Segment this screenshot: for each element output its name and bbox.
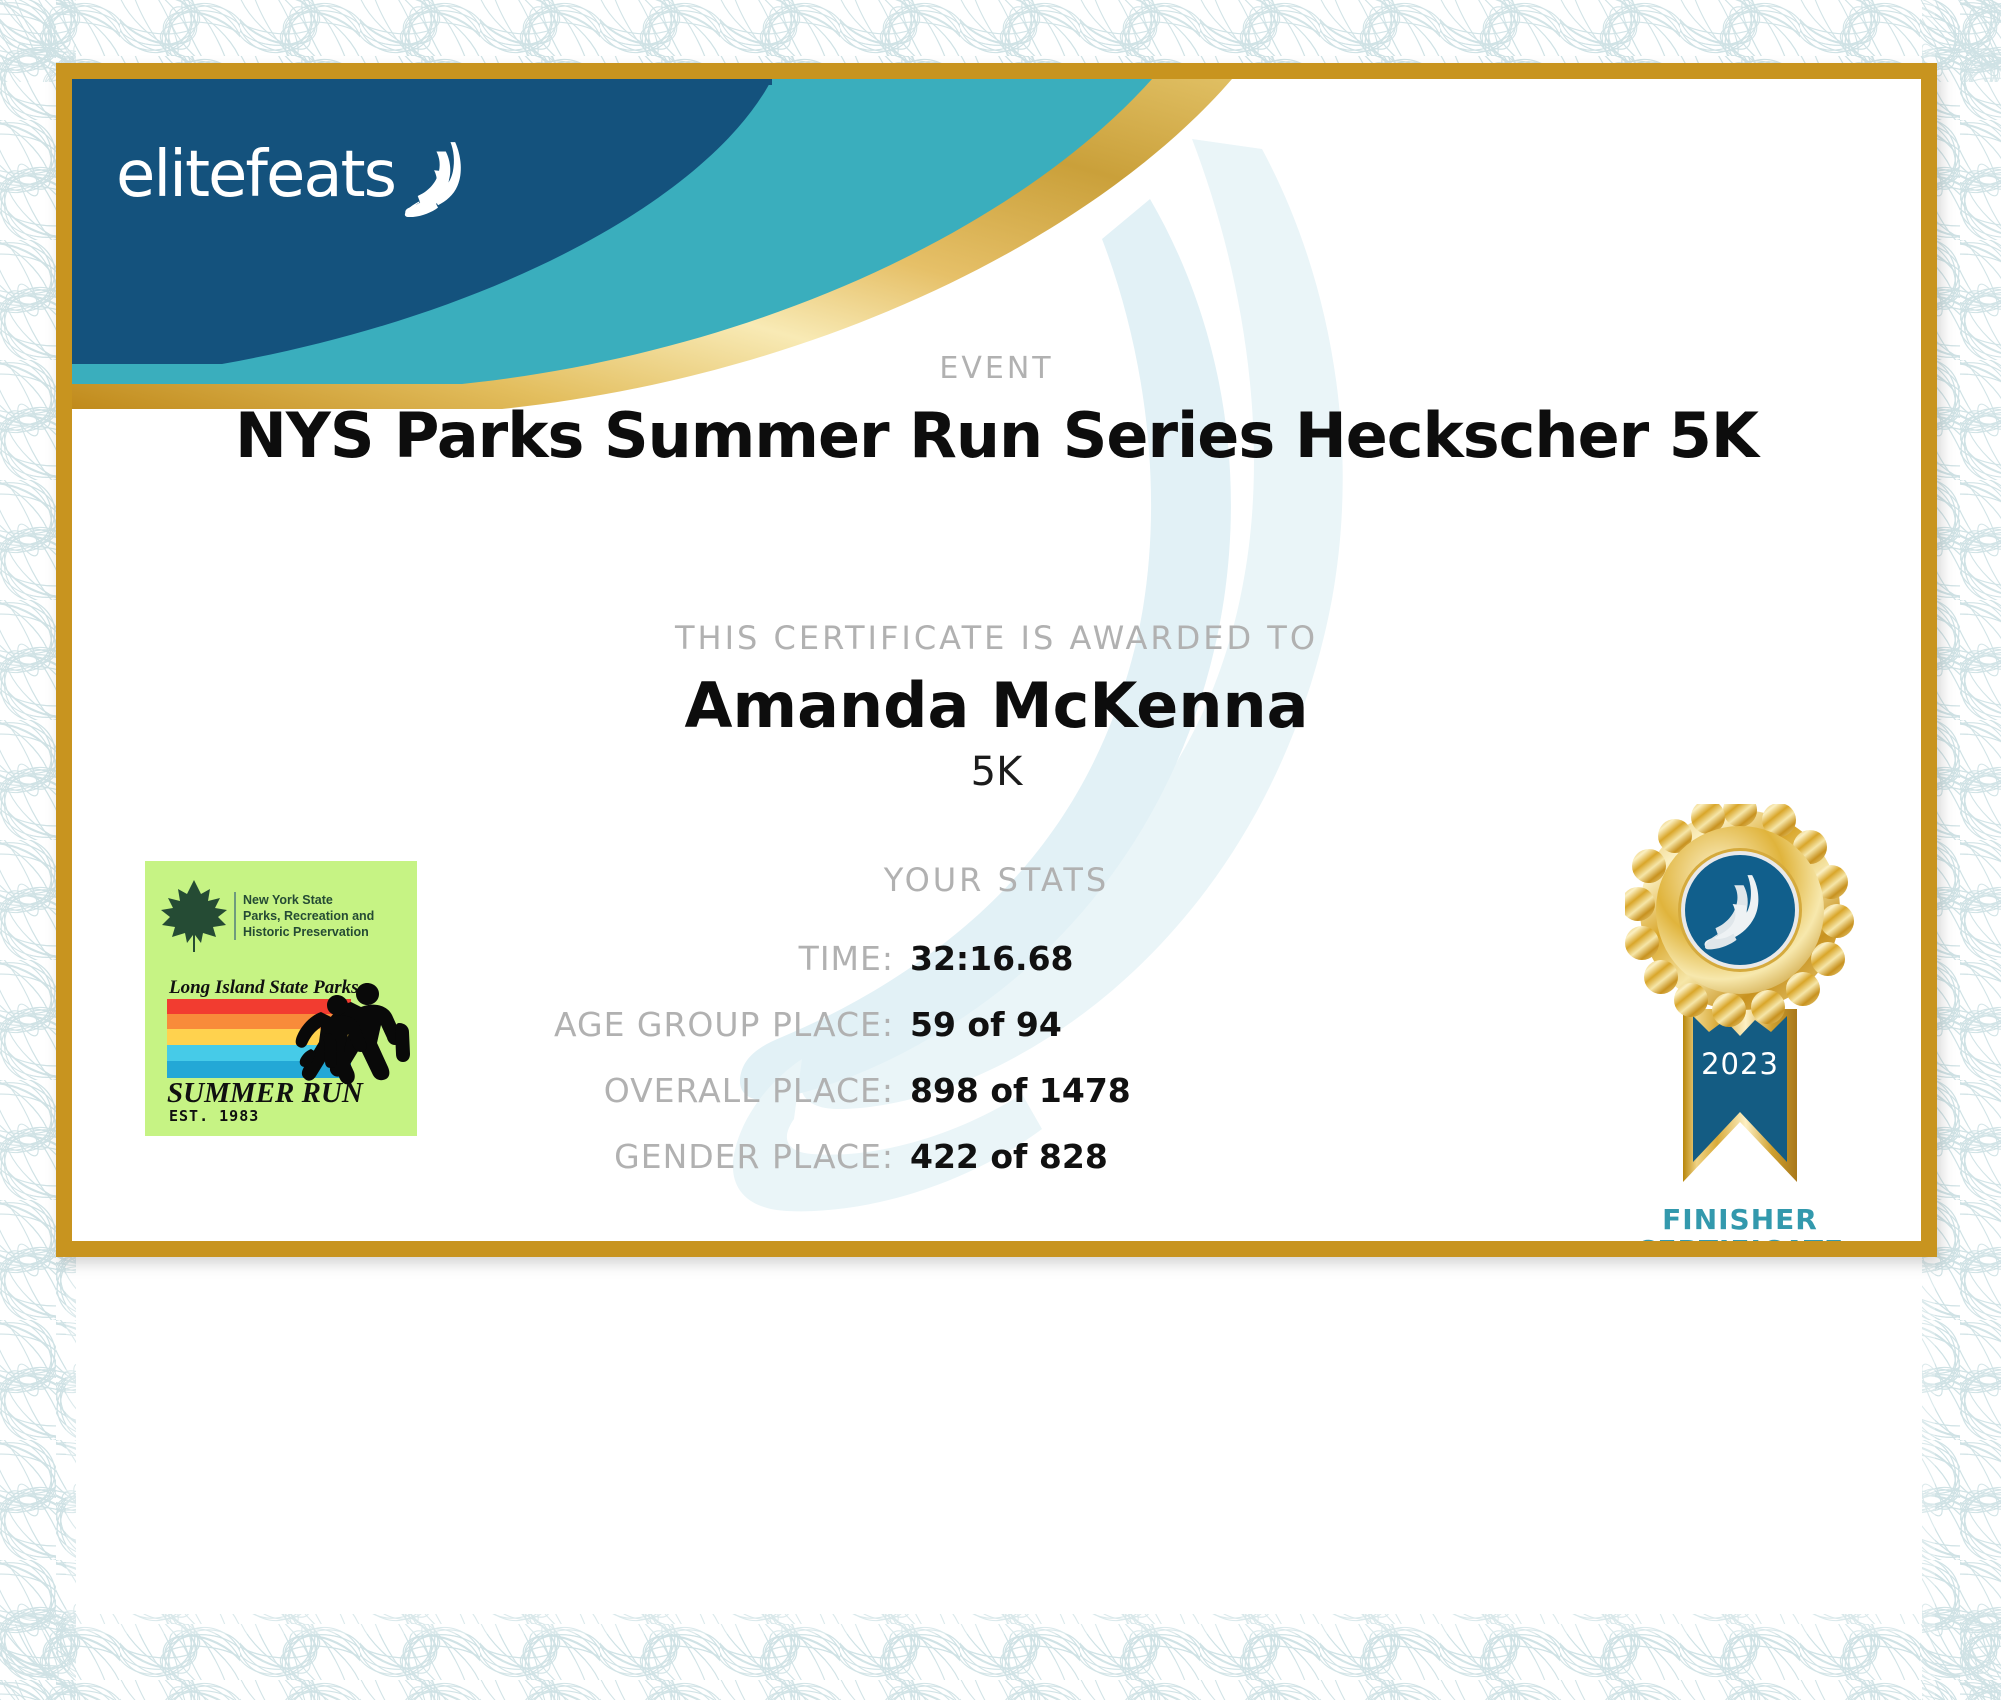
stat-row: GENDER PLACE: 422 of 828	[392, 1137, 1422, 1181]
event-name: NYS Parks Summer Run Series Heckscher 5K	[72, 399, 1921, 472]
agency-line-2: Parks, Recreation and	[243, 908, 374, 924]
stat-label: OVERALL PLACE:	[394, 1071, 894, 1110]
agency-line-3: Historic Preservation	[243, 924, 374, 940]
medal-graphic: 2023	[1625, 804, 1855, 1204]
stat-label: GENDER PLACE:	[394, 1137, 894, 1176]
certificate-body: elitefeats EVENT NYS Parks Summer Run Se…	[72, 79, 1921, 1241]
stats-table: TIME: 32:16.68 AGE GROUP PLACE: 59 of 94…	[392, 939, 1422, 1203]
awarded-to-kicker: THIS CERTIFICATE IS AWARDED TO	[72, 619, 1921, 657]
event-kicker: EVENT	[72, 351, 1921, 386]
summer-run-lockup: Long Island State Parks SUMMER RUN EST. …	[153, 971, 413, 1126]
medal-year: 2023	[1701, 1047, 1779, 1081]
series-est: EST. 1983	[169, 1107, 259, 1125]
certificate-frame: elitefeats EVENT NYS Parks Summer Run Se…	[56, 63, 1937, 1257]
finisher-caption: FINISHER CERTIFICATE	[1625, 1204, 1855, 1241]
nys-parks-lockup: New York State Parks, Recreation and His…	[158, 877, 374, 955]
stat-value: 32:16.68	[894, 939, 1420, 978]
finisher-caption-line-1: FINISHER	[1625, 1204, 1855, 1235]
stat-value: 59 of 94	[894, 1005, 1420, 1044]
nys-parks-agency-name: New York State Parks, Recreation and His…	[234, 892, 374, 940]
stat-row: OVERALL PLACE: 898 of 1478	[392, 1071, 1422, 1115]
recipient-distance: 5K	[72, 749, 1921, 795]
stat-value: 422 of 828	[894, 1137, 1420, 1176]
sponsor-logo: New York State Parks, Recreation and His…	[145, 861, 417, 1136]
series-name: SUMMER RUN	[167, 1077, 364, 1109]
two-runners-icon	[296, 983, 410, 1084]
stat-row: TIME: 32:16.68	[392, 939, 1422, 983]
agency-line-1: New York State	[243, 892, 374, 908]
recipient-name: Amanda McKenna	[72, 669, 1921, 742]
maple-leaf-icon	[158, 877, 230, 955]
stat-value: 898 of 1478	[894, 1071, 1420, 1110]
finisher-medal-badge: 2023	[1625, 804, 1855, 1241]
stat-row: AGE GROUP PLACE: 59 of 94	[392, 1005, 1422, 1049]
stat-label: AGE GROUP PLACE:	[394, 1005, 894, 1044]
series-title: Long Island State Parks	[168, 977, 359, 998]
finisher-caption-line-2: CERTIFICATE	[1625, 1235, 1855, 1241]
stat-label: TIME:	[394, 939, 894, 978]
